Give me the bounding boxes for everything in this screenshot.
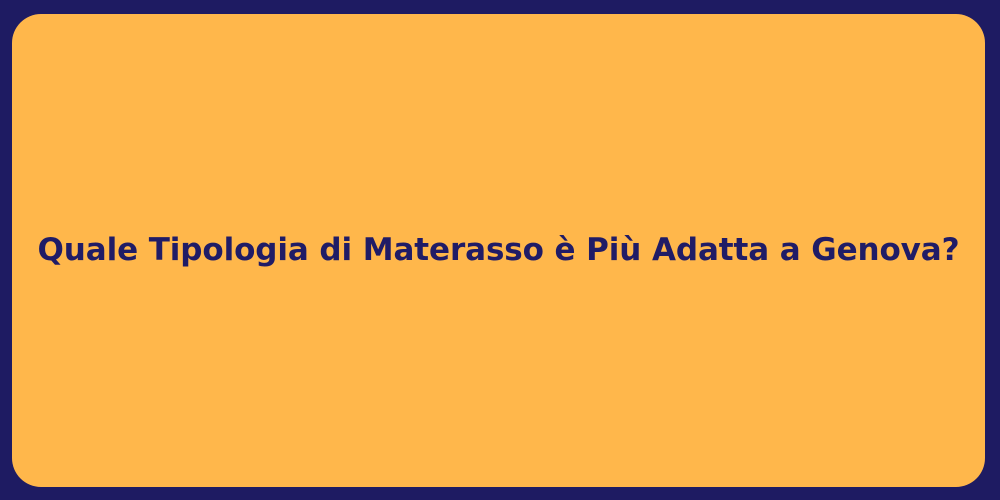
banner-frame: Quale Tipologia di Materasso è Più Adatt… [0, 0, 1000, 500]
page-title: Quale Tipologia di Materasso è Più Adatt… [38, 231, 960, 270]
banner-card: Quale Tipologia di Materasso è Più Adatt… [12, 14, 985, 487]
